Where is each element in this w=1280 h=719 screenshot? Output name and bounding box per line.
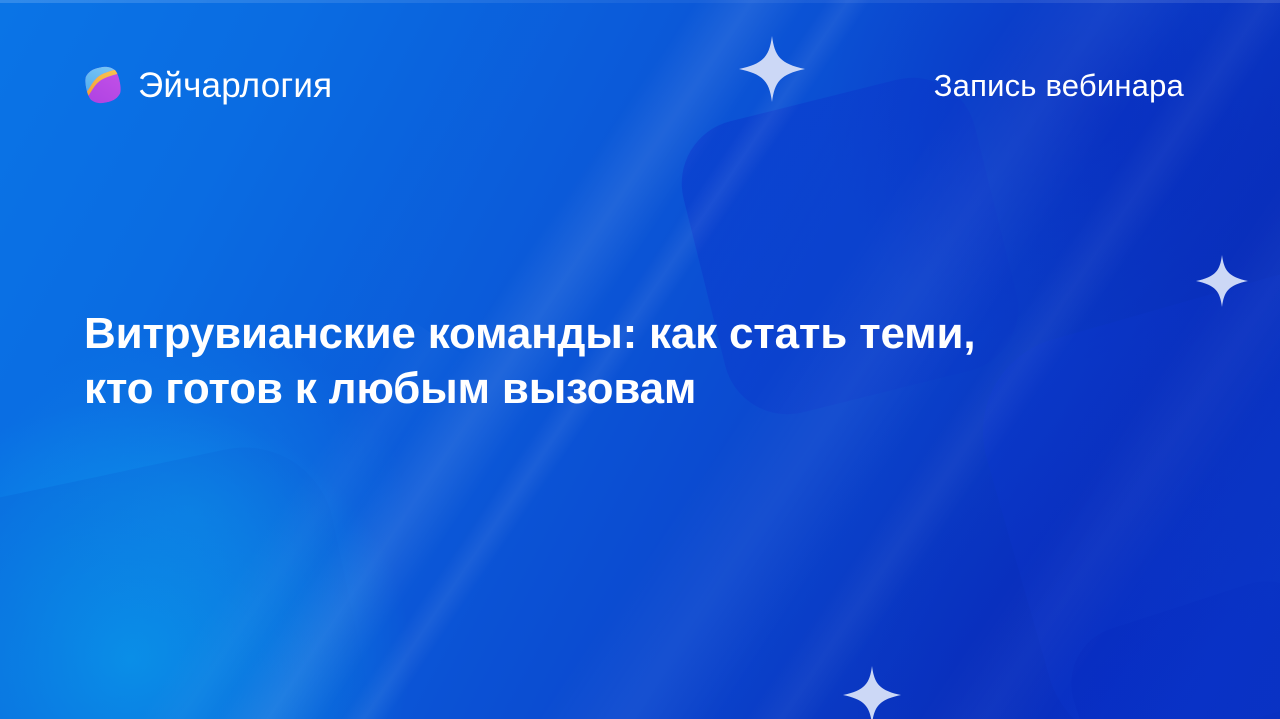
sparkle-icon xyxy=(1196,252,1248,310)
sparkle-icon xyxy=(843,663,901,719)
rounded-square-bottom-right xyxy=(1056,566,1280,719)
brand-name: Эйчарлогия xyxy=(138,68,332,103)
slide-title: Витрувианские команды: как стать теми, к… xyxy=(84,306,1114,416)
title-line-1: Витрувианские команды: как стать теми, xyxy=(84,306,1114,361)
title-line-2: кто готов к любым вызовам xyxy=(84,361,1114,416)
slide-header: Эйчарлогия Запись вебинара xyxy=(0,0,1280,170)
hr-logic-squircle-logo-icon xyxy=(84,66,122,104)
webinar-title-slide: Эйчарлогия Запись вебинара Витрувианские… xyxy=(0,0,1280,719)
webinar-record-badge: Запись вебинара xyxy=(934,70,1184,101)
rounded-square-lower-left xyxy=(0,431,397,719)
brand-logo[interactable]: Эйчарлогия xyxy=(84,66,332,104)
